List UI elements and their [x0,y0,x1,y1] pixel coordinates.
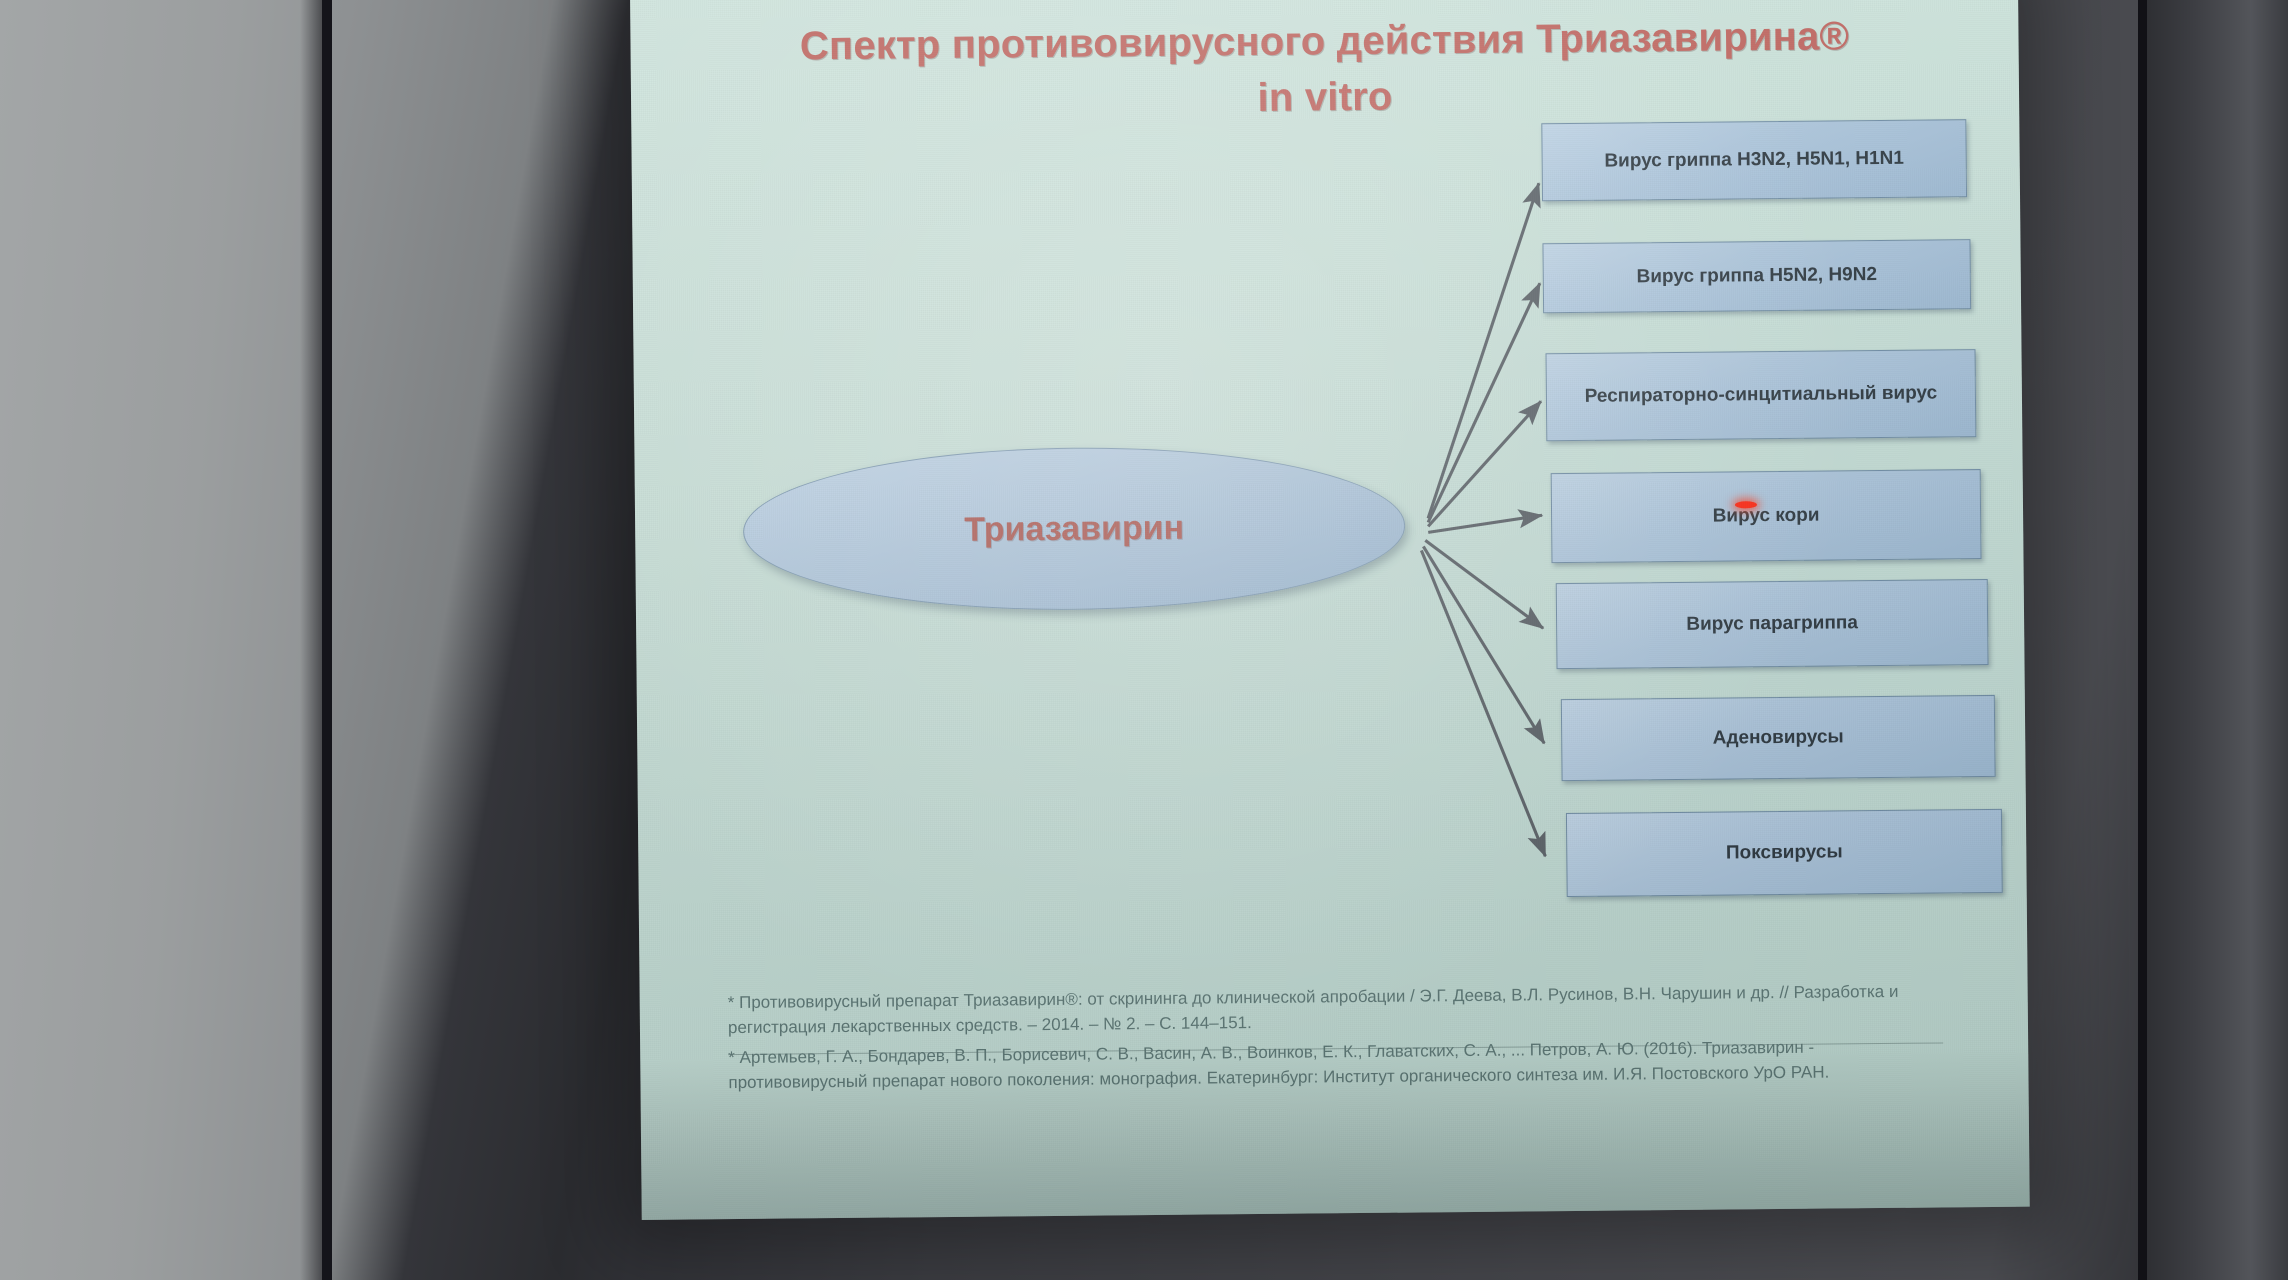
node-label: Вирус гриппа H3N2, H5N1, H1N1 [1604,147,1904,174]
node-label: Вирус кори [1713,504,1820,529]
node-label: Вирус парагриппа [1686,611,1858,636]
right-screen-rail [2138,0,2147,1280]
presentation-slide: Спектр противовирусного действия Триазав… [630,0,2030,1220]
node-parainfluenza[interactable]: Вирус парагриппа [1556,579,1989,669]
node-label: Поксвирусы [1726,841,1843,866]
left-wall [0,0,322,1280]
slide-title-line-1: Спектр противовирусного действия Триазав… [630,13,2018,71]
wall-pillar-edge [322,0,332,1280]
node-label: Вирус гриппа H5N2, H9N2 [1636,263,1877,289]
center-node-triazavirin[interactable]: Триазавирин [742,445,1406,613]
node-label: Аденовирусы [1713,726,1844,751]
projection-screen: Спектр противовирусного действия Триазав… [630,0,2030,1220]
room-background: Спектр противовирусного действия Триазав… [0,0,2288,1280]
node-poxvirus[interactable]: Поксвирусы [1566,809,2003,897]
node-influenza-2[interactable]: Вирус гриппа H5N2, H9N2 [1542,239,1971,313]
node-adenovirus[interactable]: Аденовирусы [1561,695,1996,781]
node-influenza-1[interactable]: Вирус гриппа H3N2, H5N1, H1N1 [1541,119,1967,201]
node-measles[interactable]: Вирус кори [1551,469,1982,563]
footnote-reference-2: * Артемьев, Г. А., Бондарев, В. П., Бори… [728,1034,1943,1095]
center-node-label: Триазавирин [964,508,1184,549]
node-label: Респираторно-синцитиальный вирус [1585,382,1938,409]
right-wall [2140,0,2288,1280]
footnote-reference-1: * Противовирусный препарат Триазавирин®:… [728,979,1943,1040]
slide-title-line-2: in vitro [631,69,2019,127]
node-rsv[interactable]: Респираторно-синцитиальный вирус [1546,349,1977,441]
